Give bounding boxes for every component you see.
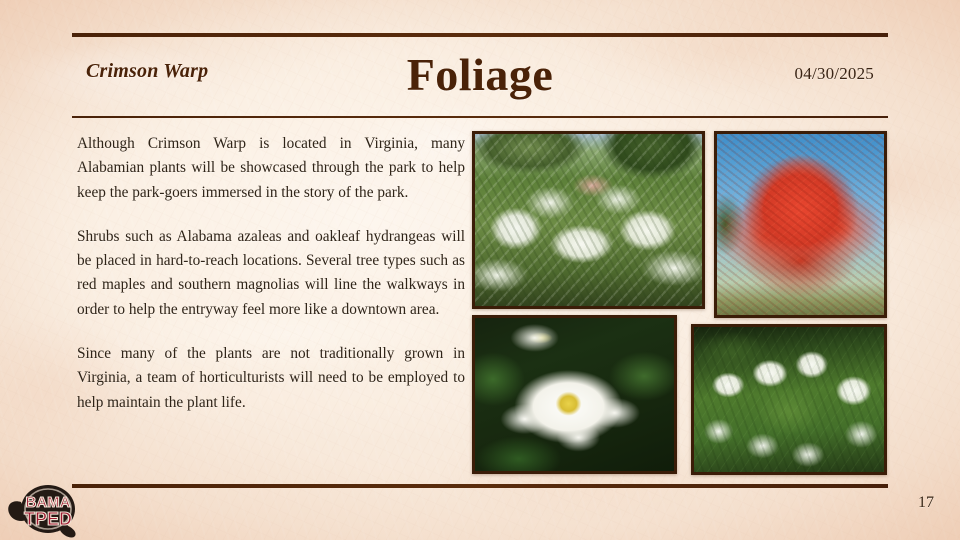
photo-white-azalea-shrub (472, 131, 705, 309)
photo-oakleaf-hydrangea (691, 324, 887, 475)
white-azalea-shrub-image (475, 134, 702, 306)
paragraph-1: Although Crimson Warp is located in Virg… (77, 132, 465, 205)
oakleaf-hydrangea-image (694, 327, 884, 472)
logo-line-2: TPED (24, 509, 72, 529)
bottom-divider-rule (72, 484, 888, 488)
body-text-column: Although Crimson Warp is located in Virg… (77, 132, 465, 415)
slide-date: 04/30/2025 (795, 64, 874, 84)
page-number: 17 (918, 494, 934, 512)
paragraph-2: Shrubs such as Alabama azaleas and oakle… (77, 225, 465, 322)
southern-magnolia-bloom-image (475, 318, 674, 471)
bama-tped-logo: BAMA TPED (4, 482, 90, 538)
top-divider-rule (72, 33, 888, 37)
paragraph-3: Since many of the plants are not traditi… (77, 342, 465, 415)
slide: Crimson Warp Foliage 04/30/2025 Although… (0, 0, 960, 540)
photo-southern-magnolia-bloom (472, 315, 677, 474)
red-maple-tree-image (717, 134, 884, 315)
bama-tped-logo-icon: BAMA TPED (4, 482, 90, 538)
photo-red-maple-tree (714, 131, 887, 318)
header-divider-rule (72, 116, 888, 118)
